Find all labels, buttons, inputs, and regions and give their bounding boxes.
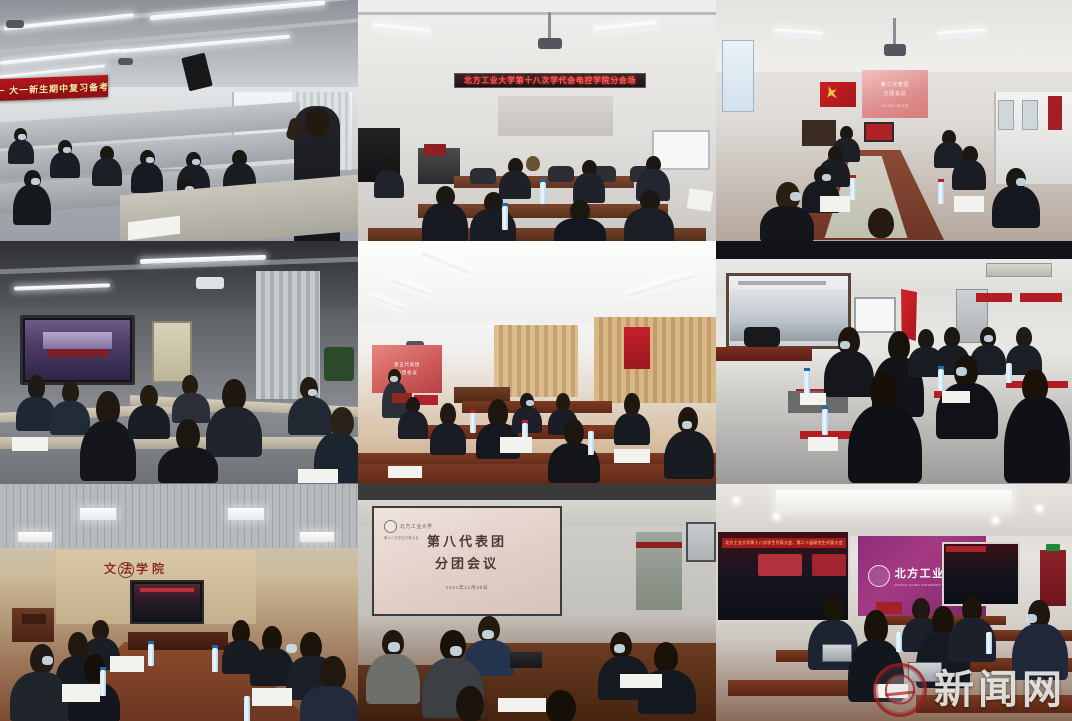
face-mask (146, 157, 154, 163)
water-bottle (1006, 363, 1012, 383)
ceiling-beam (358, 12, 716, 15)
ceiling-light (594, 21, 656, 33)
water-bottle (148, 644, 154, 666)
bright-meeting-room-photo: 第五代表团 分团会议 (358, 241, 716, 484)
attendee-head (440, 403, 456, 425)
wall-poster (624, 327, 650, 369)
attendee-body (824, 351, 874, 397)
face-mask (956, 367, 967, 376)
display-stage (43, 332, 113, 349)
bottle-cap (938, 179, 944, 182)
university-seal-icon (868, 565, 890, 587)
bench-row (916, 695, 1072, 713)
attendee-body (50, 401, 90, 435)
potted-plant (324, 347, 354, 381)
bottle-cap (804, 368, 810, 371)
attendee-body (614, 413, 650, 445)
slide-logo-text: 北方工业大学 (400, 523, 432, 530)
photo-tile-top-right[interactable]: 第二代表团 分团会议 2021年11月20日 (716, 0, 1072, 241)
photo-tile-middle-right[interactable] (716, 241, 1072, 484)
attendee-body (131, 163, 163, 193)
hall-door (1040, 550, 1066, 606)
face-mask (614, 644, 625, 653)
red-poster (1048, 96, 1062, 130)
cabinet-glass (998, 100, 1014, 130)
attendee-body (92, 158, 122, 186)
attendee-body (430, 423, 466, 455)
projector-stem (893, 18, 896, 46)
photo-tile-bottom-right[interactable]: 北方工业大学第十八次学生代表大会、第二十届研究生代表大会 北方工业大学 NORT… (716, 484, 1072, 721)
bench-row (728, 680, 858, 696)
water-bottle (212, 648, 218, 672)
cabinet-glass (1022, 100, 1038, 130)
paper-sheet (820, 196, 850, 212)
attendee-body (422, 203, 468, 241)
photo-tile-top-center[interactable]: 北方工业大学第十八次学代会电控学院分会场 (358, 0, 716, 241)
attendee-head (182, 375, 198, 395)
boardroom-wenfa-photo: 文法学院 (0, 484, 358, 721)
water-bottle (938, 369, 944, 391)
paper-sheet (687, 188, 714, 211)
attendee-body (499, 171, 531, 199)
attendee-body (50, 152, 80, 178)
bottle-cap (850, 175, 856, 178)
slide-line-1: 第八代表团 (427, 531, 507, 550)
attendee-head (564, 419, 584, 445)
speaker-head (305, 108, 330, 137)
classroom-livestream-photo (0, 241, 358, 484)
projection-area (498, 96, 613, 136)
wall-display (130, 580, 204, 624)
attendee-body (624, 208, 674, 241)
attendee-head (96, 391, 120, 425)
laptop (510, 652, 542, 668)
slide-logo: 北方工业大学 (384, 520, 432, 533)
face-mask (840, 341, 850, 349)
attendee-body (374, 170, 404, 198)
face-mask (482, 630, 494, 639)
slide-date: 2021年11月20日 (446, 585, 489, 591)
presentation-room-photo: 北方工业大学 第十八次学生代表大会 第八代表团 分团会议 2021年11月20日 (358, 484, 716, 721)
projector-stem (548, 12, 551, 40)
wall-sign (976, 293, 1012, 302)
ceiling-light (372, 23, 430, 35)
red-banner-text: 一 大一新生期中复习备考 (0, 79, 109, 96)
attendee-body (300, 686, 358, 721)
face-mask (1016, 178, 1026, 186)
bottle-cap (502, 203, 508, 206)
display-logo-panel (758, 554, 802, 576)
attendee-body (128, 405, 170, 439)
lecture-hall-photo: 一 大一新生期中复习备考 (0, 0, 358, 241)
bottle-cap (148, 641, 154, 644)
bottle-cap (540, 179, 546, 182)
attendee-head (92, 620, 109, 640)
water-bottle (588, 431, 594, 455)
water-bottle (822, 409, 828, 435)
bulletin-board (152, 321, 192, 383)
podium-monitor (424, 144, 446, 156)
downlight (734, 498, 739, 503)
foreground-shadow (716, 241, 1072, 259)
wall-title: 文法学院 (104, 560, 168, 577)
led-banner-text: 北方工业大学第十八次学代会电控学院分会场 (464, 75, 636, 86)
attendee-body (760, 206, 814, 241)
table-monitor (864, 122, 894, 142)
face-mask (42, 656, 53, 665)
bottle-cap (822, 406, 828, 409)
auditorium-led-wall-photo: 北方工业大学第十八次学生代表大会、第二十届研究生代表大会 北方工业大学 NORT… (716, 484, 1072, 721)
projection-flag-room-photo (716, 241, 1072, 484)
paper-sheet (498, 698, 546, 712)
bottle-cap (522, 420, 528, 423)
water-bottle (100, 670, 106, 696)
photo-tile-middle-center[interactable]: 第五代表团 分团会议 (358, 241, 716, 484)
ceiling-projector (196, 277, 224, 289)
paper-sheet (388, 466, 422, 478)
attendee-body (158, 447, 218, 483)
photo-tile-bottom-left[interactable]: 文法学院 (0, 484, 358, 721)
ceiling-light (18, 532, 52, 542)
attendee-body (1012, 624, 1068, 680)
slide-date: 2021年11月20日 (881, 103, 909, 108)
display-banner (140, 588, 194, 592)
attendee-head (28, 375, 45, 399)
attendee-head (546, 690, 576, 721)
face-mask (18, 134, 26, 140)
attendee-body (1004, 397, 1070, 483)
face-mask (1026, 614, 1037, 623)
attendee-body (13, 185, 51, 225)
downlight (774, 514, 779, 519)
ceiling-light (776, 490, 1012, 512)
attendee-body (848, 405, 922, 483)
paper-sheet (620, 674, 662, 688)
chair (470, 168, 496, 184)
attendee-head (320, 656, 346, 690)
display-logo-panel (812, 554, 846, 576)
attendee-head (654, 642, 678, 672)
face-mask (63, 147, 71, 153)
air-conditioner (986, 263, 1052, 277)
projected-slide: 第二代表团 分团会议 2021年11月20日 (862, 70, 928, 118)
paper-sheet (942, 391, 970, 403)
university-crest-icon (384, 520, 397, 533)
slide-line-2: 分团会议 (884, 90, 907, 97)
notice-board (722, 40, 754, 112)
paper-sheet (614, 449, 650, 463)
wall-sign (1020, 293, 1062, 302)
photo-tile-middle-left[interactable] (0, 241, 358, 484)
attendee-body (470, 209, 516, 241)
ceiling-projector (538, 38, 562, 49)
attendee-head (68, 632, 88, 658)
exit-sign-icon (1046, 544, 1060, 551)
water-bottle (896, 632, 902, 652)
attendee-body (554, 218, 606, 241)
lectern (802, 120, 836, 146)
face-mask (308, 389, 317, 396)
front-desk (716, 347, 812, 361)
display-banner: 北方工业大学第十八次学生代表大会、第二十届研究生代表大会 (722, 538, 846, 548)
led-banner: 北方工业大学第十八次学代会电控学院分会场 (454, 73, 646, 88)
ceiling-light (300, 532, 334, 542)
attendee-head (824, 596, 844, 622)
window-curtain (594, 317, 716, 403)
bottle-cap (470, 410, 476, 413)
ceiling-light (228, 508, 264, 520)
photo-collage-grid: 一 大一新生期中复习备考 (0, 0, 1072, 721)
projection-caption (738, 281, 826, 285)
paper-sheet (800, 393, 826, 405)
projector (118, 58, 133, 65)
slide-logo-subtitle: 第十八次学生代表大会 (384, 535, 419, 540)
ceiling-projector (884, 44, 906, 56)
face-mask (526, 400, 534, 406)
attendee-head (870, 371, 898, 409)
paper-sheet (874, 684, 908, 698)
face-mask (390, 376, 398, 382)
paper-sheet (110, 656, 144, 672)
attendee-body (398, 411, 428, 439)
foreground-shadow (358, 484, 716, 500)
projector (6, 20, 24, 28)
face-mask (388, 642, 400, 652)
cabinet-label (636, 542, 682, 548)
attendee-head (678, 407, 698, 433)
downlight (993, 518, 998, 523)
red-banner: 一 大一新生期中复习备考 (0, 75, 108, 101)
photo-tile-bottom-center[interactable]: 北方工业大学 第十八次学生代表大会 第八代表团 分团会议 2021年11月20日 (358, 484, 716, 721)
face-mask (984, 335, 993, 342)
face-mask (790, 192, 801, 201)
attendee-body (10, 672, 70, 721)
attendee-body (206, 407, 262, 457)
bottle-cap (100, 667, 106, 670)
attendee-head (624, 393, 640, 415)
laptop (822, 644, 852, 662)
face-mask (31, 178, 40, 185)
paper-sheet (62, 684, 100, 702)
face-mask (682, 421, 692, 429)
water-bottle (502, 206, 508, 230)
water-bottle (470, 413, 476, 433)
party-flag (820, 82, 856, 107)
attendee-body (952, 160, 986, 190)
photo-tile-top-left[interactable]: 一 大一新生期中复习备考 (0, 0, 358, 241)
downlight (1037, 506, 1042, 511)
water-bottle (244, 696, 250, 721)
slide-line-2: 分团会议 (435, 553, 499, 572)
attendee-body (664, 431, 714, 479)
paper-sheet (808, 437, 838, 451)
face-mask (822, 174, 831, 181)
laptop (908, 662, 942, 682)
paper-sheet (500, 437, 532, 453)
face-mask (286, 644, 297, 653)
attendee-head (456, 686, 484, 721)
paper-sheet (12, 437, 48, 451)
attendee-body (288, 397, 332, 435)
attendee-head (526, 156, 540, 171)
paper-sheet (954, 196, 984, 212)
lectern-sign (22, 614, 46, 624)
water-bottle (850, 178, 856, 200)
chair (548, 166, 574, 182)
classroom-led-banner-photo: 北方工业大学第十八次学代会电控学院分会场 (358, 0, 716, 241)
projected-slide: 第五代表团 分团会议 (372, 345, 442, 393)
water-bottle (540, 182, 546, 204)
attendee-head (918, 329, 934, 349)
bottle-cap (212, 645, 218, 648)
water-bottle (938, 182, 944, 204)
paper-sheet (252, 688, 292, 706)
whiteboard (854, 297, 896, 333)
display-banner (946, 546, 986, 552)
attendee-head (868, 208, 894, 238)
attendee-body (8, 140, 34, 164)
bottle-cap (938, 366, 944, 369)
face-mask (450, 646, 462, 656)
ceiling-light (80, 508, 116, 520)
paper-sheet (298, 469, 338, 483)
wall-window (686, 522, 716, 562)
projection-screen: 北方工业大学 第十八次学生代表大会 第八代表团 分团会议 2021年11月20日 (372, 506, 562, 616)
chair (744, 327, 780, 347)
conference-room-party-flag-photo: 第二代表团 分团会议 2021年11月20日 (716, 0, 1072, 241)
attendee-head (912, 598, 930, 620)
bottle-cap (588, 428, 594, 431)
slide-line-1: 第五代表团 (394, 362, 420, 368)
attendee-body (366, 654, 420, 704)
attendee-head (864, 610, 888, 644)
slide-line-1: 第二代表团 (881, 81, 910, 88)
display-banner (47, 349, 108, 357)
water-bottle (804, 371, 810, 393)
water-bottle (986, 632, 992, 654)
attendee-head (944, 327, 960, 347)
attendee-head (1016, 327, 1032, 347)
attendee-body (992, 186, 1040, 228)
attendee-body (573, 173, 605, 203)
attendee-head (62, 381, 79, 403)
display-banner-text: 北方工业大学第十八次学生代表大会、第二十届研究生代表大会 (725, 540, 843, 546)
face-mask (192, 159, 200, 165)
